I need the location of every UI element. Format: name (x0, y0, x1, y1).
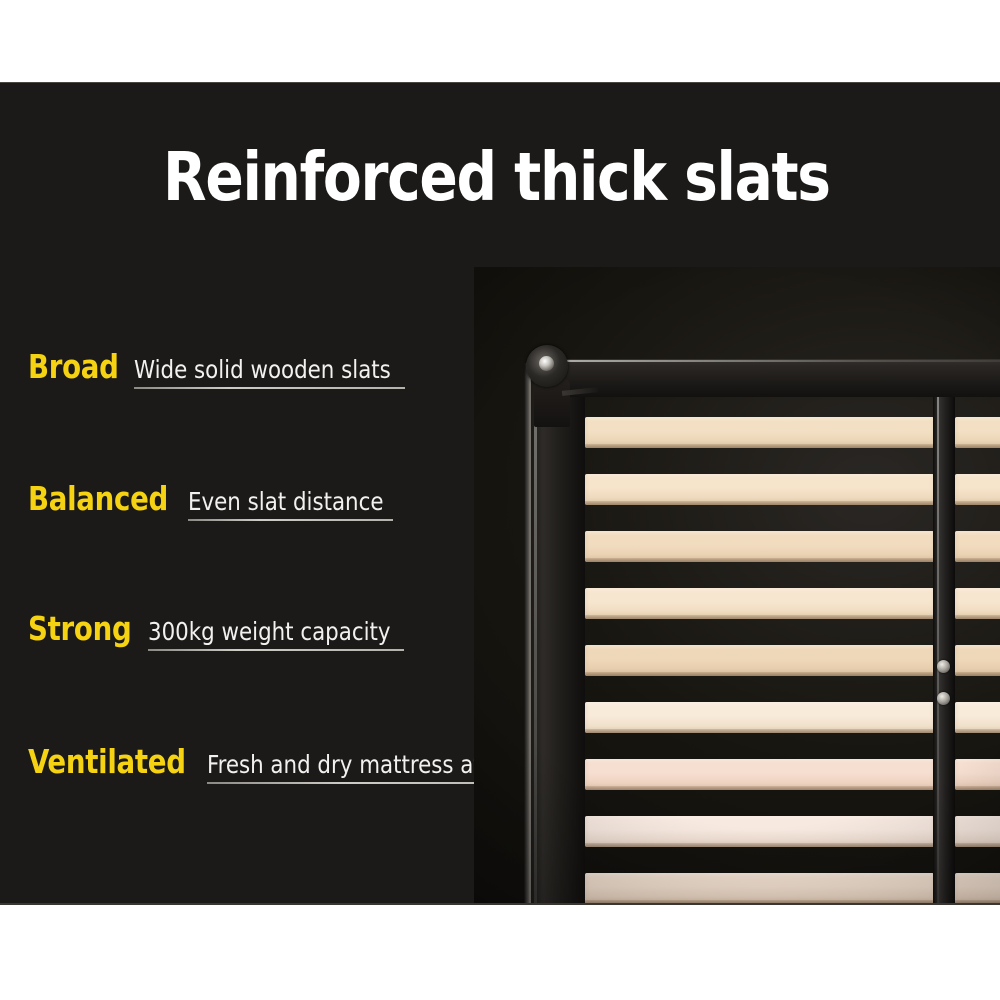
slat-bottom-edge (955, 900, 1000, 904)
wooden-slat (585, 702, 934, 733)
feature-key-ventilated: Ventilated (28, 745, 186, 778)
top-rail (554, 359, 1000, 397)
slat-bottom-edge (585, 672, 934, 676)
feature-value-wrap-balanced: Even slat distance (188, 489, 394, 521)
wooden-slat (955, 702, 1000, 733)
slat-bottom-edge (585, 615, 934, 619)
wooden-slat (955, 417, 1000, 448)
corner-bolt-icon (526, 345, 568, 387)
wooden-slat (955, 759, 1000, 790)
slat-bottom-edge (955, 615, 1000, 619)
wooden-slat (955, 816, 1000, 847)
wooden-slat (585, 873, 934, 904)
slat-bottom-edge (955, 729, 1000, 733)
slat-bottom-edge (585, 501, 934, 505)
slat-bottom-edge (585, 444, 934, 448)
feature-value-strong: 300kg weight capacity (148, 619, 391, 644)
slat-bottom-edge (955, 444, 1000, 448)
wooden-slat (955, 873, 1000, 904)
left-side-rail (531, 363, 585, 905)
top-rail-highlight (554, 360, 1000, 362)
wooden-slat (585, 474, 934, 505)
slat-bottom-edge (955, 558, 1000, 562)
slat-bottom-edge (585, 900, 934, 904)
underline-rule (134, 387, 404, 389)
feature-key-balanced: Balanced (28, 482, 168, 515)
wooden-slat (955, 645, 1000, 676)
feature-value-balanced: Even slat distance (188, 489, 383, 514)
left-rail-highlight (534, 363, 537, 905)
slat-bottom-edge (955, 786, 1000, 790)
product-feature-graphic: Reinforced thick slats Broad Wide solid … (0, 0, 1000, 1000)
feature-value-wrap-strong: 300kg weight capacity (148, 619, 403, 651)
slat-bottom-edge (955, 501, 1000, 505)
wooden-slat (585, 645, 934, 676)
slat-bottom-edge (585, 729, 934, 733)
slat-bottom-edge (955, 672, 1000, 676)
wooden-slat (585, 816, 934, 847)
wooden-slat (955, 531, 1000, 562)
feature-row-balanced: Balanced Even slat distance (28, 482, 393, 521)
feature-value-broad: Wide solid wooden slats (134, 357, 391, 382)
feature-key-strong: Strong (28, 612, 131, 645)
underline-rule (188, 519, 394, 521)
wooden-slat (955, 588, 1000, 619)
feature-row-strong: Strong 300kg weight capacity (28, 612, 404, 651)
slat-bottom-edge (585, 843, 934, 847)
feature-key-broad: Broad (28, 350, 119, 383)
page-title: Reinforced thick slats (163, 144, 877, 211)
slat-bottom-edge (585, 786, 934, 790)
center-bar-screw-upper (937, 660, 950, 673)
wooden-slat (955, 474, 1000, 505)
center-bar-highlight (937, 385, 939, 905)
wooden-slat (585, 417, 934, 448)
slat-bottom-edge (585, 558, 934, 562)
center-bar-screw-lower (937, 692, 950, 705)
wooden-slat (585, 588, 934, 619)
feature-row-broad: Broad Wide solid wooden slats (28, 350, 405, 389)
wooden-slat (585, 759, 934, 790)
underline-rule (148, 649, 403, 651)
feature-value-wrap-broad: Wide solid wooden slats (134, 357, 404, 389)
slat-bottom-edge (955, 843, 1000, 847)
product-photo-slat-base (474, 267, 1000, 905)
wooden-slat (585, 531, 934, 562)
dark-content-panel: Reinforced thick slats Broad Wide solid … (0, 82, 1000, 905)
